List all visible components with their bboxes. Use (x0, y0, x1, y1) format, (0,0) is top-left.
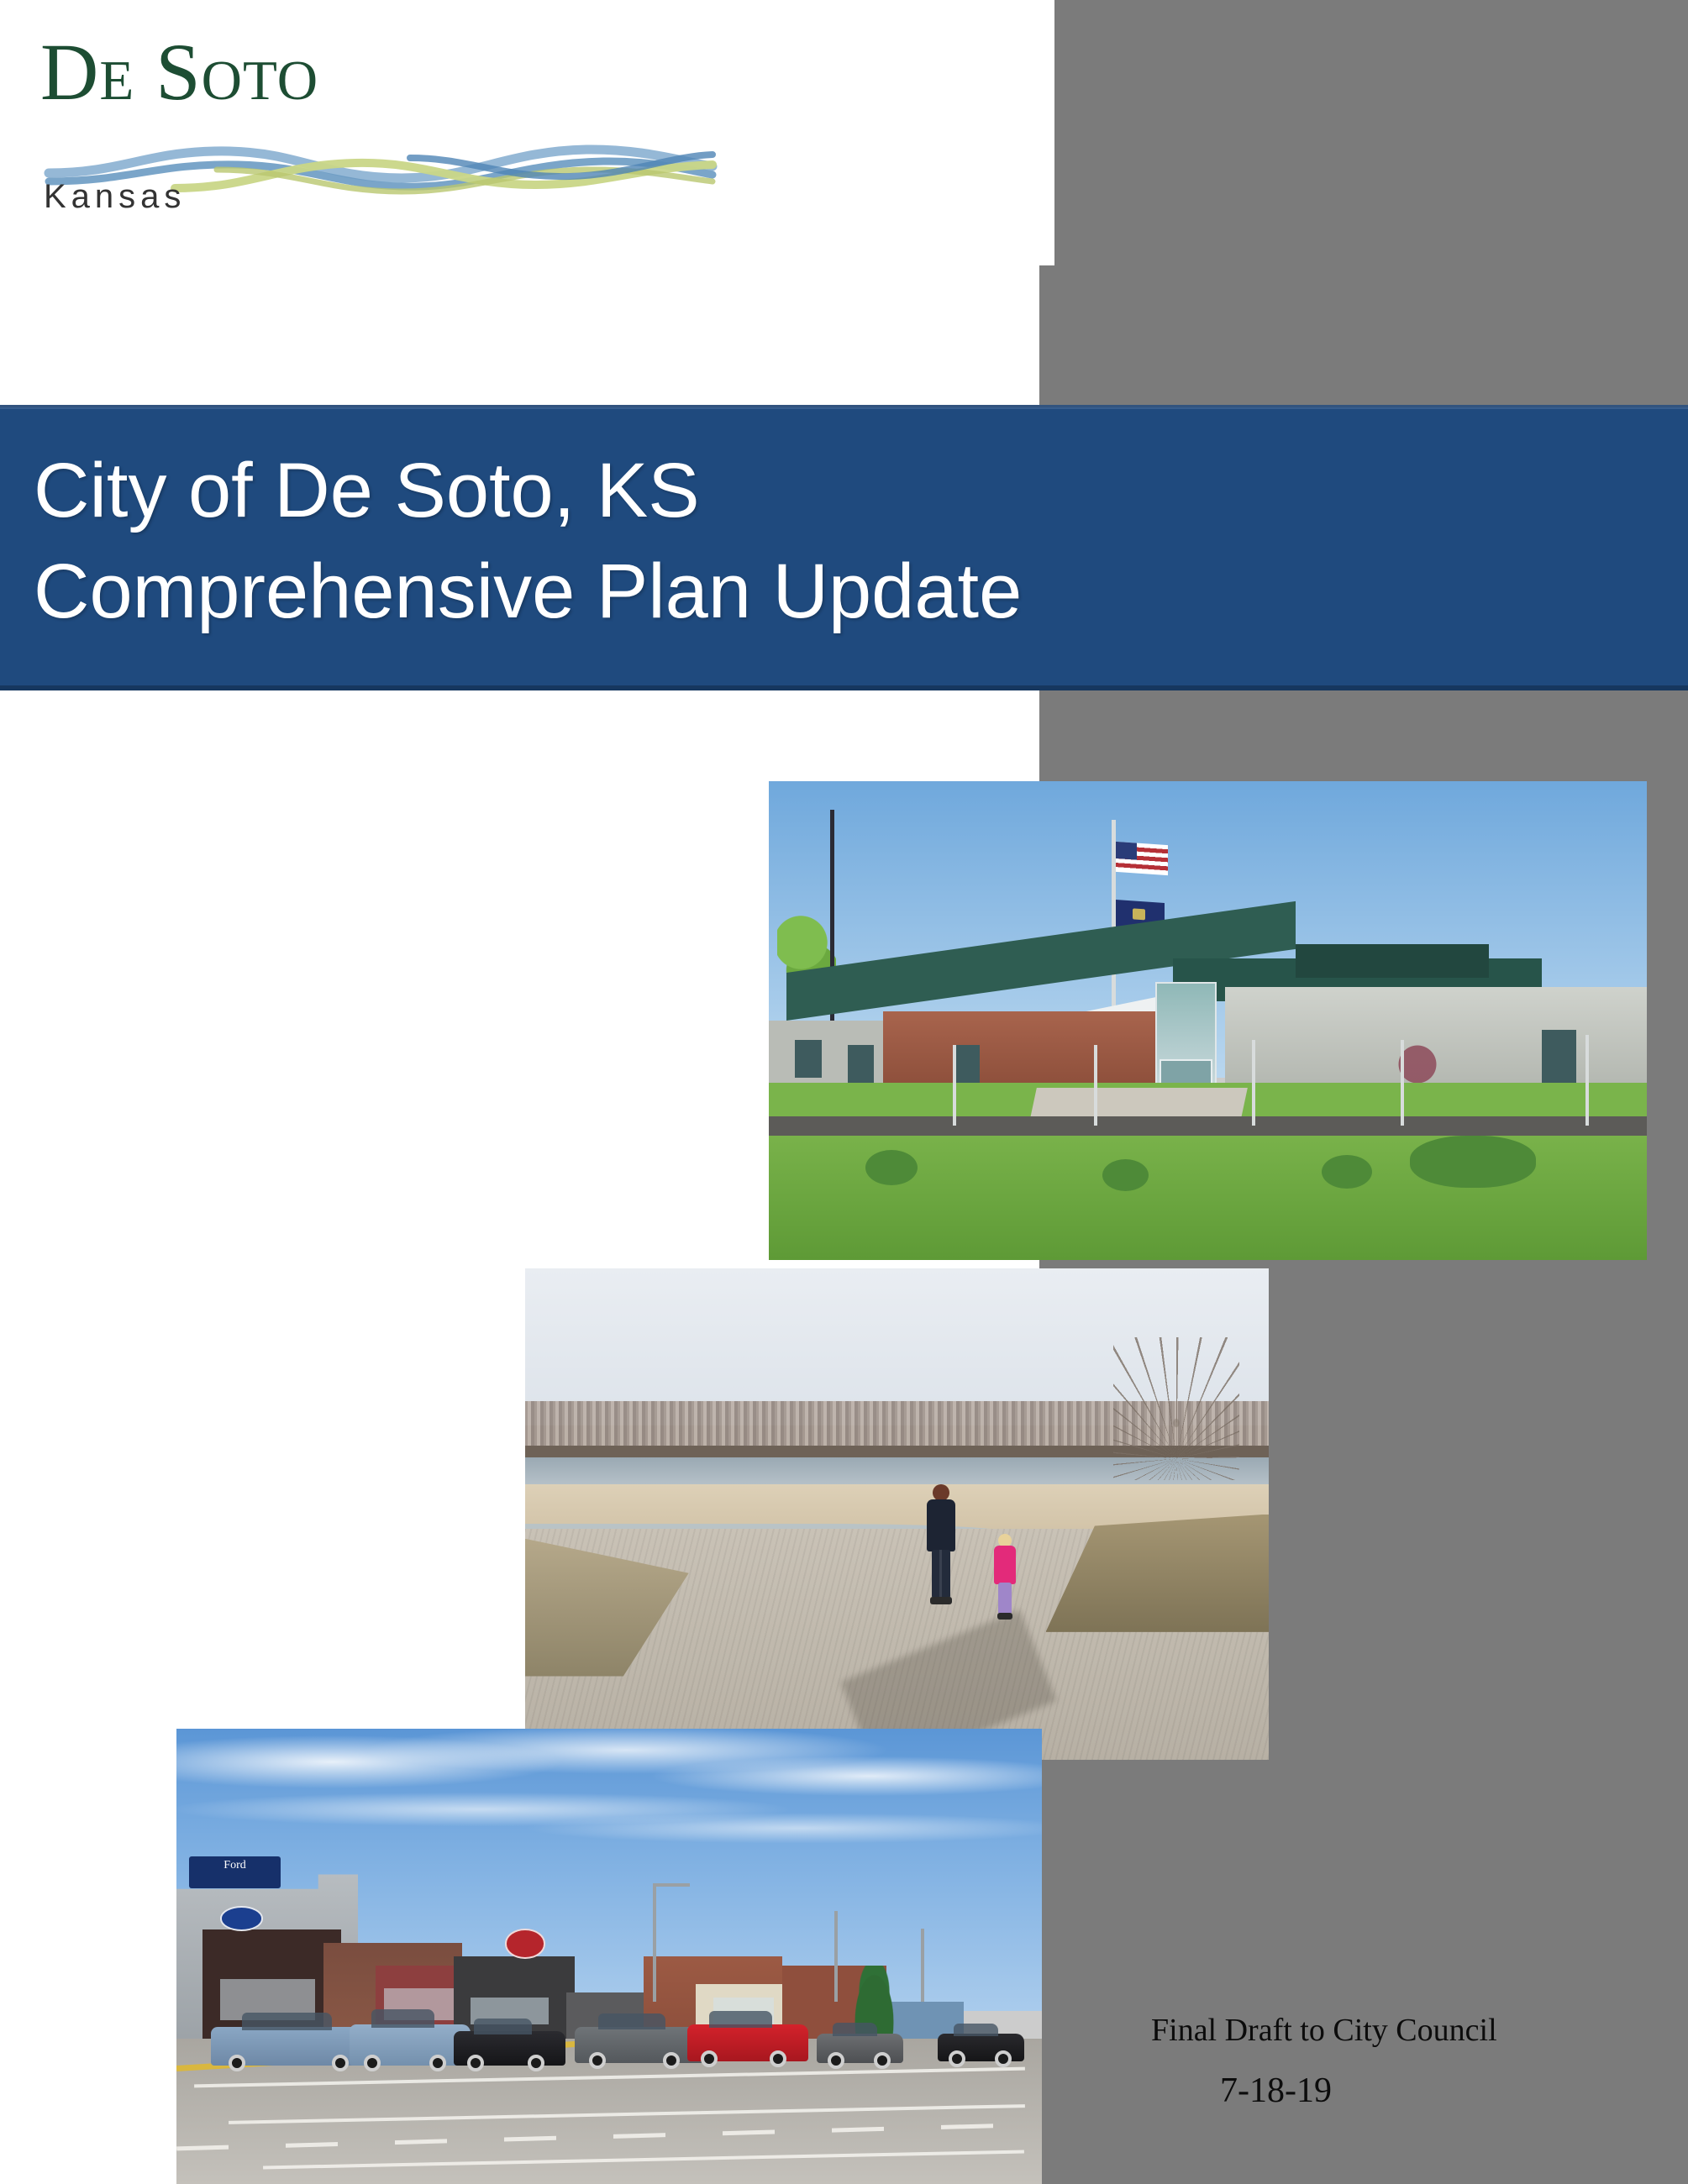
title-banner: City of De Soto, KS Comprehensive Plan U… (0, 405, 1688, 690)
street-lamp-arm (653, 1883, 690, 1887)
shrub (1322, 1155, 1372, 1189)
adult-figure (927, 1484, 955, 1607)
cover-footer: Final Draft to City Council 7-18-19 (1075, 2012, 1664, 2111)
vehicle-wheel (995, 2050, 1012, 2067)
river-walk-photo (525, 1268, 1269, 1760)
street-lamp-post (834, 1911, 838, 2002)
sign-post (1585, 1035, 1589, 1126)
adult-jacket (927, 1499, 955, 1551)
child-leggings (998, 1583, 1012, 1614)
page-title-line-2: Comprehensive Plan Update (34, 541, 1022, 642)
window (953, 1045, 979, 1084)
gray-sedan (817, 2034, 903, 2063)
vehicle-wheel (229, 2055, 245, 2071)
draft-date-text: 7-18-19 (1220, 2071, 1664, 2111)
vehicle-cab (598, 2013, 665, 2030)
window (1542, 1030, 1577, 1083)
vehicle-cab (242, 2013, 332, 2030)
red-pickup-truck (687, 2024, 808, 2061)
vehicle-cab (833, 2023, 878, 2036)
sign-post (953, 1045, 956, 1126)
logo-subtitle: Kansas (44, 178, 186, 216)
black-sedan (454, 2031, 566, 2066)
bare-tree (1113, 1337, 1239, 1480)
child-pink-coat (994, 1546, 1016, 1584)
banner-top-edge (0, 405, 1688, 409)
vehicle-wheel (949, 2050, 965, 2067)
wall-brick (883, 1011, 1199, 1088)
sign-post (1401, 1040, 1404, 1126)
roof-block (1296, 944, 1489, 978)
vehicle-wheel (828, 2052, 844, 2069)
logo-wordmark: De Soto (40, 32, 318, 113)
wall-left (769, 1021, 901, 1088)
vehicle-cab (474, 2019, 533, 2034)
vehicle-wheel (770, 2050, 786, 2067)
adult-legs (932, 1550, 950, 1599)
ornamental-tree (1384, 1040, 1451, 1089)
shop-round-sign (505, 1929, 544, 1958)
vehicle-cab (954, 2024, 999, 2036)
ford-dealership-sign: Ford (189, 1856, 280, 1888)
page-title-line-1: City of De Soto, KS (34, 440, 1022, 541)
ford-oval-logo-icon (220, 1906, 264, 1931)
sign-post (1252, 1040, 1255, 1126)
shrub-row (1410, 1136, 1536, 1188)
adult-head (933, 1484, 949, 1501)
window (795, 1040, 821, 1079)
blue-minivan (350, 2024, 471, 2066)
street-lamp-post (653, 1883, 656, 2002)
gray-pickup-truck (575, 2027, 705, 2063)
sign-post (1094, 1045, 1097, 1126)
vehicle-wheel (528, 2055, 544, 2071)
vehicle-cab (709, 2011, 772, 2028)
adult-shoes (930, 1597, 952, 1604)
black-pickup-truck (938, 2034, 1024, 2061)
vehicle-wheel (701, 2050, 718, 2067)
city-logo: De Soto Kansas (32, 27, 713, 228)
downtown-street-photo: Ford (176, 1729, 1042, 2184)
utility-pole (921, 1929, 924, 2002)
child-shoes (997, 1613, 1012, 1620)
us-flag (1116, 842, 1168, 875)
window (848, 1045, 874, 1084)
gray-panel-notch (1039, 0, 1054, 265)
vehicle-wheel (467, 2055, 484, 2071)
banner-bottom-edge (0, 685, 1688, 690)
civic-building-photo (769, 781, 1647, 1260)
draft-status-text: Final Draft to City Council (1151, 2012, 1664, 2049)
vehicle-cab (371, 2009, 434, 2028)
shrub (865, 1150, 918, 1185)
child-figure (994, 1534, 1016, 1621)
